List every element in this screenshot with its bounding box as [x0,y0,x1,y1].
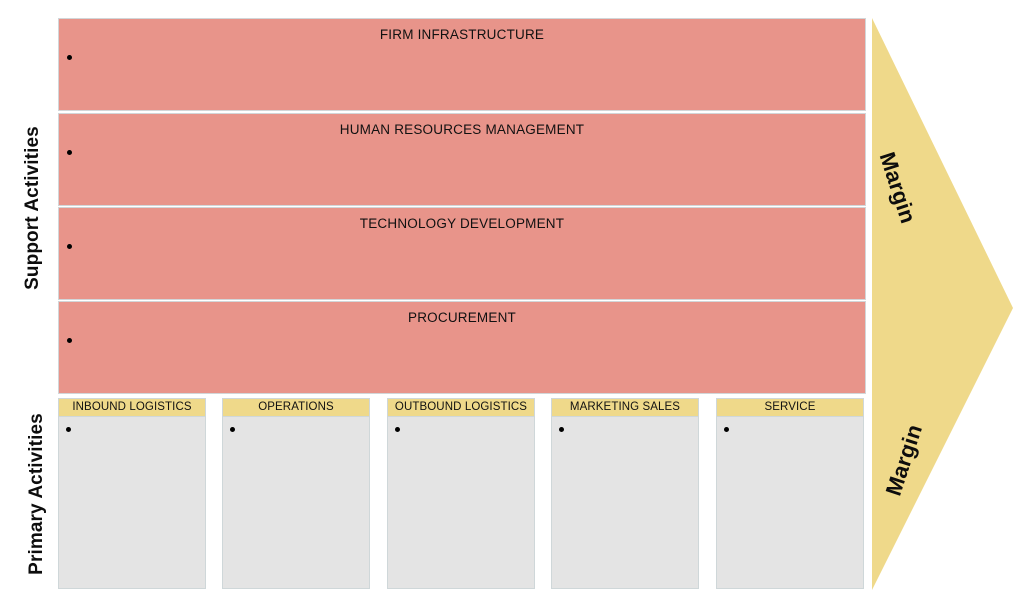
primary-activity-card-outbound-logistics[interactable]: OUTBOUND LOGISTICS [387,398,535,589]
support-activity-row-human-resources-management[interactable]: HUMAN RESOURCES MANAGEMENT [58,113,866,206]
primary-activity-card-operations[interactable]: OPERATIONS [222,398,370,589]
primary-activity-card-inbound-logistics[interactable]: INBOUND LOGISTICS [58,398,206,589]
support-activity-label: FIRM INFRASTRUCTURE [59,27,865,42]
support-activity-row-technology-development[interactable]: TECHNOLOGY DEVELOPMENT [58,207,866,300]
primary-activity-label: MARKETING SALES [552,399,698,417]
support-activity-row-procurement[interactable]: PROCUREMENT [58,301,866,394]
primary-activity-card-marketing-sales[interactable]: MARKETING SALES [551,398,699,589]
primary-activity-label: SERVICE [717,399,863,417]
primary-activity-card-service[interactable]: SERVICE [716,398,864,589]
bullet-icon [724,427,729,432]
bullet-icon [67,150,72,155]
support-activity-label: PROCUREMENT [59,310,865,325]
primary-activity-label: OPERATIONS [223,399,369,417]
bullet-icon [67,55,72,60]
primary-activity-label: OUTBOUND LOGISTICS [388,399,534,417]
bullet-icon [395,427,400,432]
primary-activities-axis-label-text: Primary Activities [23,394,51,594]
bullet-icon [559,427,564,432]
support-activity-label: HUMAN RESOURCES MANAGEMENT [59,122,865,137]
bullet-icon [66,427,71,432]
support-activity-label: TECHNOLOGY DEVELOPMENT [59,216,865,231]
support-activity-row-firm-infrastructure[interactable]: FIRM INFRASTRUCTURE [58,18,866,111]
bullet-icon [67,244,72,249]
value-chain-diagram: Support Activities Primary Activities FI… [0,0,1022,614]
bullet-icon [230,427,235,432]
primary-activity-label: INBOUND LOGISTICS [59,399,205,417]
margin-arrow-shape [872,18,1022,598]
support-activities-axis-label-text: Support Activities [19,108,47,308]
bullet-icon [67,338,72,343]
